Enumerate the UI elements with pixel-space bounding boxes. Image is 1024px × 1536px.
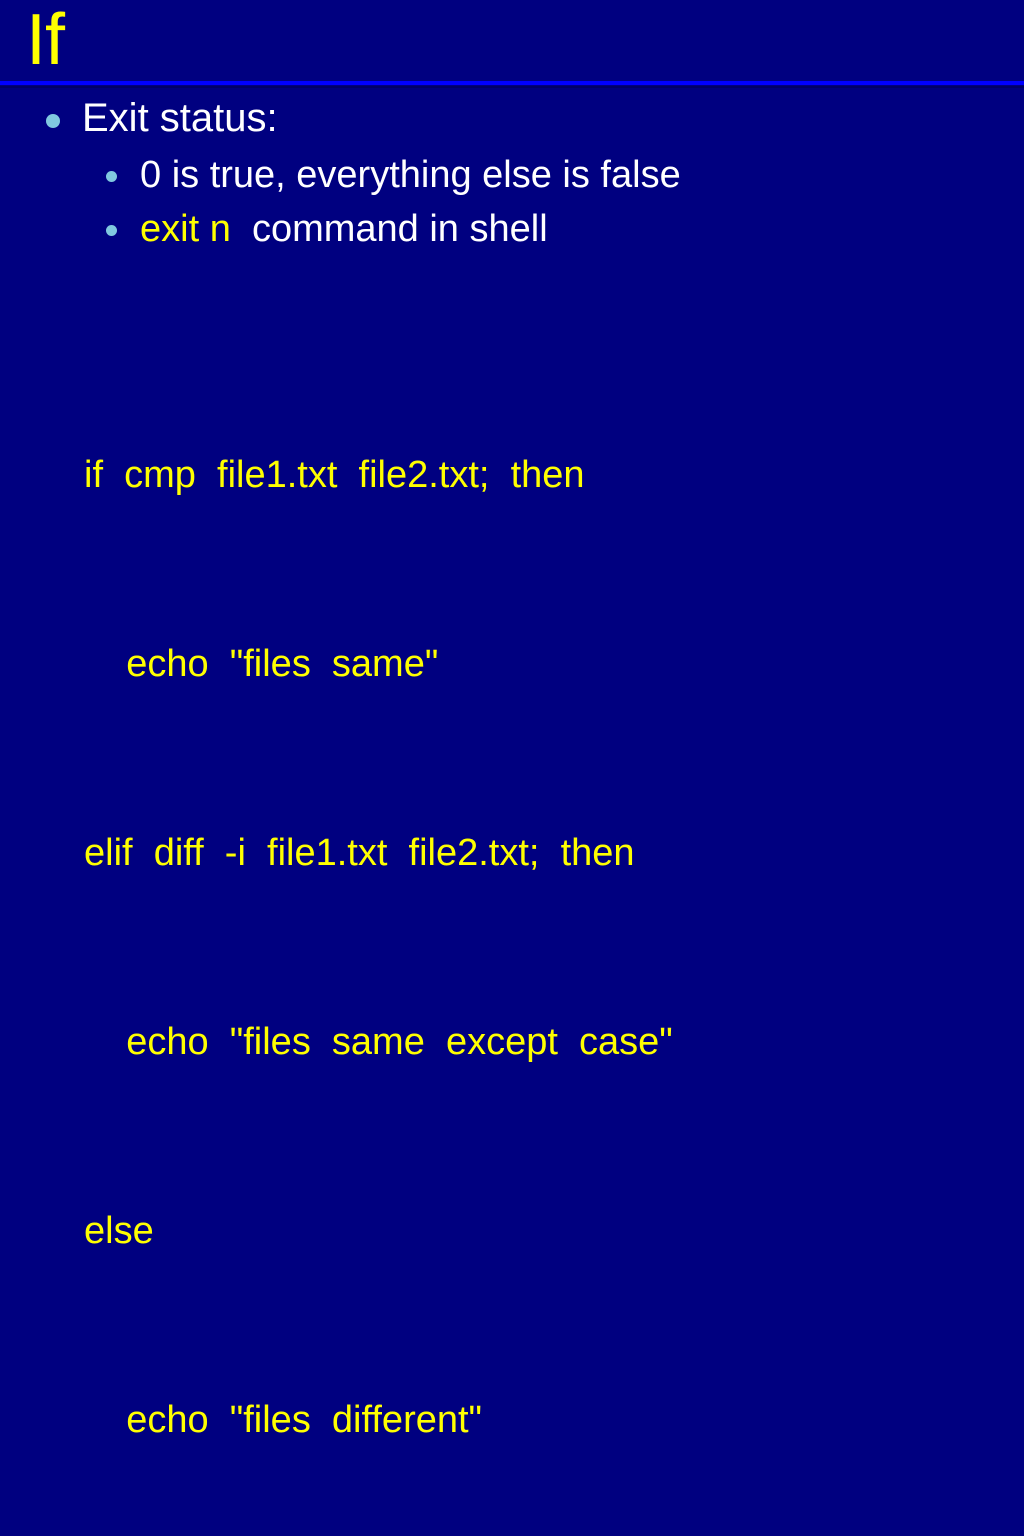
slide: If Exit status: 0 is true, everything el… xyxy=(0,0,1024,768)
title-divider xyxy=(0,81,1024,85)
bullet-level2-label: exit n command in shell xyxy=(140,208,548,250)
bullet-dot-icon xyxy=(106,225,117,236)
code-keyword-exit-n: exit n xyxy=(140,208,231,250)
bullet-level1-exit-status: Exit status: xyxy=(0,94,1024,144)
code-line: echo "files same except case" xyxy=(84,1011,1014,1074)
bullet-level2-label: 0 is true, everything else is false xyxy=(140,154,681,196)
code-line: elif diff -i file1.txt file2.txt; then xyxy=(84,822,1014,885)
bullet-dot-icon xyxy=(106,171,117,182)
title-area: If xyxy=(0,0,1024,84)
code-block: if cmp file1.txt file2.txt; then echo "f… xyxy=(84,318,1014,1536)
code-line: echo "files different" xyxy=(84,1389,1014,1452)
title-divider-shadow xyxy=(0,86,1024,88)
bullet-level2-rest: command in shell xyxy=(231,208,548,250)
bullet-level2-exit-n-command: exit n command in shell xyxy=(0,204,1024,256)
page-title: If xyxy=(26,2,64,78)
bullet-dot-icon xyxy=(46,114,60,128)
code-line: echo "files same" xyxy=(84,633,1014,696)
code-line: else xyxy=(84,1200,1014,1263)
body-content: Exit status: 0 is true, everything else … xyxy=(0,94,1024,258)
bullet-level1-label: Exit status: xyxy=(82,96,278,140)
bullet-level2-zero-is-true: 0 is true, everything else is false xyxy=(0,150,1024,202)
code-line: if cmp file1.txt file2.txt; then xyxy=(84,444,1014,507)
